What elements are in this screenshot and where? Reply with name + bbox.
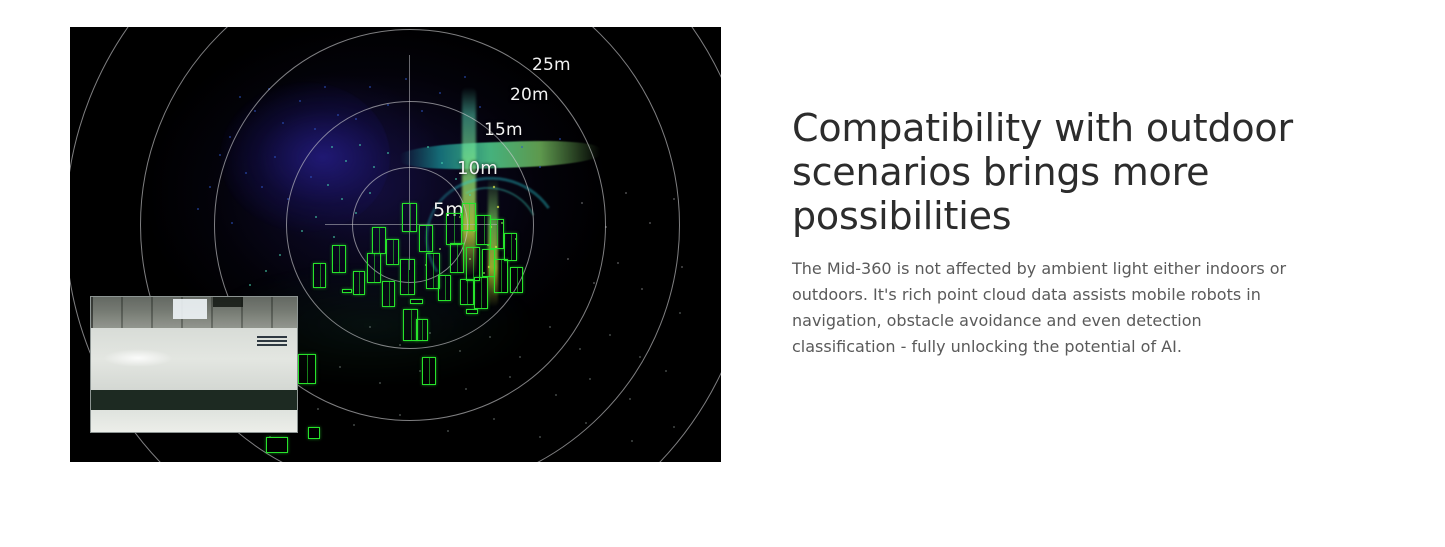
marketing-feature-section: 25m 20m 15m 10m 5m xyxy=(0,0,1445,547)
detection-box xyxy=(450,243,464,273)
detection-box xyxy=(462,203,476,231)
detection-box xyxy=(332,245,346,273)
camera-preview-inset[interactable] xyxy=(90,296,298,433)
point-cloud-arc xyxy=(413,164,572,316)
detection-box xyxy=(494,259,508,293)
detection-box xyxy=(313,263,326,288)
detection-box xyxy=(402,203,417,232)
detection-box xyxy=(422,357,436,385)
detection-box xyxy=(446,213,462,245)
inset-signage xyxy=(257,336,287,347)
lidar-scene: 25m 20m 15m 10m 5m xyxy=(70,27,721,462)
detection-box xyxy=(466,247,480,281)
detection-box xyxy=(382,281,395,307)
lidar-visualization-media[interactable]: 25m 20m 15m 10m 5m xyxy=(70,27,721,462)
point-cloud-cyan-wall xyxy=(400,139,601,172)
detection-box xyxy=(510,267,523,293)
detection-box xyxy=(426,253,440,289)
range-ring-5m xyxy=(352,167,468,283)
detection-box xyxy=(419,225,433,252)
detection-box xyxy=(504,233,517,261)
detection-box xyxy=(353,271,365,295)
crosshair-vertical xyxy=(409,55,410,270)
detection-box xyxy=(298,354,316,384)
detection-box xyxy=(386,239,399,265)
detection-box xyxy=(410,299,423,304)
inset-ceiling-dark-panel xyxy=(213,297,243,307)
detection-box xyxy=(476,215,491,245)
feature-text-panel: Compatibility with outdoor scenarios bri… xyxy=(792,106,1312,360)
point-cloud-vertical-streak xyxy=(462,87,476,277)
detection-box xyxy=(460,279,474,305)
crosshair-horizontal xyxy=(325,224,497,225)
point-cloud-arc-inner xyxy=(425,174,553,301)
range-label-25m: 25m xyxy=(532,55,571,75)
feature-description: The Mid-360 is not affected by ambient l… xyxy=(792,238,1304,360)
detection-box xyxy=(490,219,504,249)
range-label-15m: 15m xyxy=(484,120,523,140)
detection-box xyxy=(482,249,495,277)
range-label-5m: 5m xyxy=(433,199,464,221)
detection-box xyxy=(438,275,451,301)
detection-box xyxy=(367,253,381,283)
page-title: Compatibility with outdoor scenarios bri… xyxy=(792,106,1312,238)
detection-box xyxy=(308,427,320,439)
detection-box xyxy=(400,259,415,295)
range-label-20m: 20m xyxy=(510,85,549,105)
detection-box xyxy=(466,309,478,314)
inset-window-highlight xyxy=(173,299,207,319)
range-label-10m: 10m xyxy=(457,158,498,179)
inset-dark-band xyxy=(91,390,297,410)
detection-box xyxy=(474,277,488,309)
inset-floor xyxy=(91,410,297,432)
inset-glare xyxy=(103,349,173,367)
detection-box xyxy=(403,309,418,341)
detection-box xyxy=(342,289,352,293)
point-cloud-blue-region xyxy=(220,82,390,232)
range-ring-10m xyxy=(286,101,534,349)
detection-box xyxy=(372,227,386,254)
point-cloud-vertical-streak-secondary xyxy=(488,177,498,307)
detection-box xyxy=(266,437,288,453)
detection-box xyxy=(416,319,428,341)
